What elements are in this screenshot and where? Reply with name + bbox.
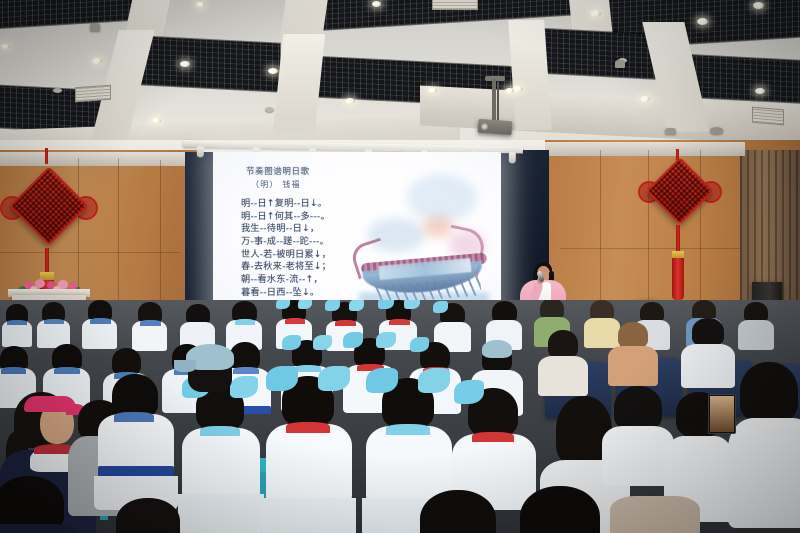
hair-bow [282,335,301,350]
poem-line: 万-事-成--蹉--跎---。 [241,236,359,249]
poem-line: 世人-若-被明日累↓， [241,249,359,262]
poem-line: 春-去秋来-老将至↓； [241,261,359,274]
air-vent-icon [75,85,111,103]
hair-bow [418,368,450,393]
downlight [345,98,355,104]
uniform-top [366,426,452,502]
shirt [538,356,588,396]
wall-trim [0,152,200,166]
poem-line: 明--日↑何其--多---。 [241,211,359,224]
wall-seam [648,150,649,320]
poem-line: 我生--待明--日↓， [241,223,359,236]
wall-seam [600,150,601,320]
wall-trim [545,142,745,156]
downlight [180,61,190,67]
hair-bow [313,335,332,350]
ceiling-beam [508,20,552,130]
hair-bow [454,380,484,404]
knot-hanger [45,148,48,164]
track-light [197,146,204,157]
shirt [738,320,774,350]
hair [614,386,662,430]
poem-line: 明--日↑复明--日↓。 [241,198,359,211]
collar [386,424,430,435]
dome-camera-icon [665,128,676,134]
collar [286,422,330,433]
shirt [610,496,700,533]
downlight [196,2,205,7]
dome-camera-icon [710,127,723,134]
downlight [753,2,764,9]
collar [472,432,514,442]
poem-line: 暮看--日西--坠↓。 [241,287,359,300]
ceiling-panel [0,0,140,29]
downlight [92,58,102,64]
hair-bow [366,368,398,393]
smoke-detector-icon [53,88,62,93]
smoke-detector-icon [265,107,274,112]
shirt [681,344,735,388]
downlight [640,96,650,102]
uniform-top [266,424,352,502]
shirt [584,318,620,348]
hair [740,362,798,422]
ceiling-panel [140,36,280,91]
phone-screen [710,396,734,432]
cap-brim [174,360,196,372]
slide-title: 节奏图谱明日歌 [246,166,310,178]
track-light [509,152,516,163]
auditorium-scene: 节奏图谱明日歌 （明） 钱福 明--日↑复明--日↓。 明--日↑何其--多--… [0,0,800,533]
shirt [608,346,658,386]
downlight [1,44,10,49]
smartphone[interactable] [708,394,736,434]
hair-bow [318,366,350,391]
collar [389,319,410,325]
skirt [262,498,356,533]
collar [90,318,111,324]
collar [140,320,161,326]
cap-icon [482,340,512,358]
projector-pole [492,79,496,121]
collar [1,367,26,374]
watercolor-wash [407,174,477,222]
collar [295,365,321,372]
audience [0,300,800,533]
collar [200,426,240,436]
uniform-top [182,428,260,498]
hair [692,318,724,346]
collar [114,412,154,422]
wall-seam [560,248,740,249]
collar [54,367,80,374]
knot-tassel [672,258,684,300]
downlight [372,1,381,7]
air-vent-icon [432,0,478,10]
collar [285,318,305,324]
collar [233,367,259,374]
air-vent-icon [752,107,784,126]
security-camera-icon [615,60,625,68]
hair-bow [266,366,298,391]
downlight [590,10,601,17]
wall-seam [0,252,180,253]
downlight [428,88,437,93]
hair-bow [230,376,258,398]
downlight [268,68,278,74]
downlight [697,18,708,25]
slide-author: （明） 钱福 [251,179,301,190]
hair-bow [433,301,448,313]
collar [7,320,27,325]
shirt [728,418,800,528]
knot-cord [45,248,49,274]
poem-line: 朝--看水东-流--↑， [241,274,359,287]
downlight [755,88,765,94]
hair-bow [376,332,396,348]
collar [335,320,356,326]
knot-cord [676,225,680,253]
projector-lens-icon [481,123,488,130]
security-camera-icon [90,23,100,31]
hair-bow [410,337,429,352]
wall-seam [700,150,701,320]
skirt [178,494,264,533]
collar [235,319,255,325]
hair-bow [343,332,363,348]
downlight [152,118,161,123]
hair [618,322,648,348]
collar [44,319,64,324]
